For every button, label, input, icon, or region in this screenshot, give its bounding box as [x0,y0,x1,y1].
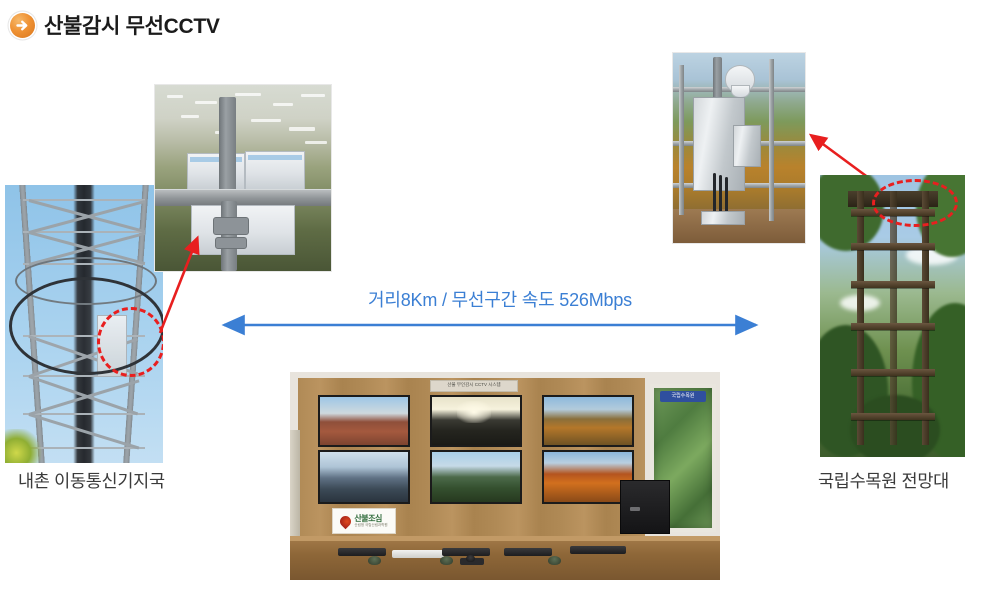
antenna-panel-left [187,153,245,191]
keyboard-3 [442,548,490,556]
black-recorder-box [620,480,670,534]
monitor-1-feed [320,397,408,445]
equipment-cabinet-side-box [733,125,761,167]
cabinet-base-plate [701,211,745,225]
keyboard-1 [338,548,386,556]
mouse-3 [548,556,561,565]
side-cabinet [290,430,300,542]
page-title-row: 산불감시 무선CCTV [10,10,220,40]
monitor-5 [430,450,522,504]
wireless-antenna-closeup-photo [155,85,331,271]
fire-sign-subtext: 산림청 국립산림과학원 [354,524,387,528]
keyboard-2 [392,550,444,558]
wireless-link-caption: 거리8Km / 무선구간 속도 526Mbps [0,286,1000,312]
keyboard-5 [570,546,626,554]
page-title: 산불감시 무선CCTV [44,10,220,40]
monitor-4 [318,450,410,504]
map-board-title: 국립수목원 [660,391,706,402]
antenna-mounting-clamp [213,217,249,235]
railing-top-bar [155,189,331,206]
wall-header-plate: 산불 무인감시 CCTV 시스템 [430,380,518,392]
railing-post-left [679,65,684,215]
monitor-3-feed [544,397,632,445]
monitor-3 [542,395,634,447]
flame-icon [338,513,354,529]
mouse-4 [466,555,475,562]
monitor-5-feed [432,452,520,502]
wooden-observation-tower-photo [820,175,965,457]
equipment-cabinet-camera-closeup-photo [673,53,805,243]
blue-double-headed-arrow [214,312,766,338]
keyboard-4 [504,548,552,556]
caption-right-site: 국립수목원 전망대 [818,468,949,493]
railing-post-right [769,59,774,221]
caption-left-site: 내촌 이동통신기지국 [18,468,165,493]
orange-circle-arrow-icon [10,13,35,38]
monitor-2-feed [432,397,520,445]
antenna-mounting-clamp-2 [215,237,247,249]
monitor-2 [430,395,522,447]
fire-sign-text: 산불조심 [354,515,381,523]
monitor-4-feed [320,452,408,502]
lattice-structure [5,185,163,463]
monitor-1 [318,395,410,447]
antenna-panel-right [245,151,305,191]
mouse-1 [368,556,381,565]
wooden-tower-structure [855,191,931,445]
telecom-lattice-tower-photo [5,185,163,463]
fire-prevention-sign: 산불조심 산림청 국립산림과학원 [332,508,396,534]
monitor-6-feed [544,452,632,502]
mouse-2 [440,556,453,565]
forest-fire-monitoring-control-room-photo: 산불 무인감시 CCTV 시스템 산불조심 산림청 국립산림과학원 국립수목원 [290,372,720,580]
antenna-mast-pole-lower [221,201,237,271]
camera-mounting-pole [713,57,722,101]
operator-desk [290,536,720,580]
foreground-foliage [5,429,43,463]
antenna-mast-pole [219,97,236,201]
